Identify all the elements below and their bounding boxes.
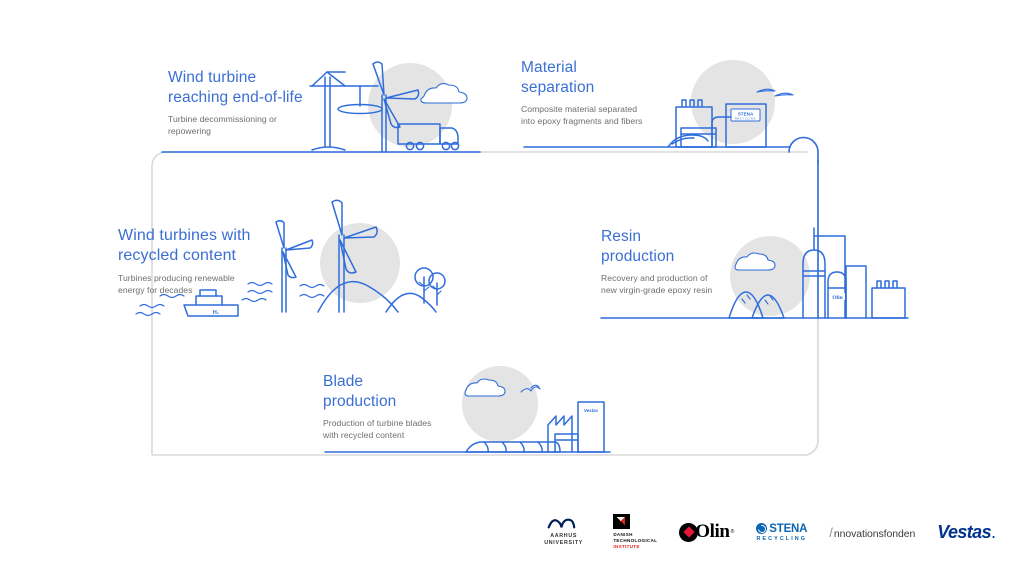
stage-end-of-life: Wind turbine reaching end-of-life Turbin… [168,68,353,137]
stage-title-recycled-content: Wind turbines with recycled content [118,226,318,267]
logo-danish-technological-institute: DANISH TECHNOLOGICAL INSTITUTE [613,510,657,554]
svg-text:STENA: STENA [738,111,754,116]
stena-subtitle: RECYCLING [756,536,807,542]
stage-description-blade-production: Production of turbine blades with recycl… [323,418,523,442]
logo-aarhus-university: AARHUS UNIVERSITY [536,510,591,554]
stage-title-resin-production: Resin production [601,227,791,267]
svg-text:H₂: H₂ [213,310,220,316]
aarhus-wave-icon [547,517,581,530]
olin-wordmark: Olin [695,521,729,543]
logo-olin: Olin ® [679,510,734,554]
innovationsfonden-wordmark: nnovationsfonden [834,528,915,540]
infographic-canvas: .bl{fill:none;stroke:#2f6ddb;stroke-widt… [0,0,1024,576]
svg-text:RECYCLING: RECYCLING [735,117,756,121]
partner-logo-row: AARHUS UNIVERSITY DANISH TECHNOLOGICAL I… [536,508,996,556]
svg-text:Olin: Olin [832,295,843,301]
stena-wordmark: STENA [769,523,807,535]
stage-description-material-separation: Composite material separated into epoxy … [521,104,711,128]
logo-vestas: Vestas . [937,510,996,554]
logo-stena-recycling: STENA RECYCLING [756,510,807,554]
stage-description-end-of-life: Turbine decommissioning or repowering [168,114,353,138]
svg-text:Vestas: Vestas [584,408,599,413]
vestas-period: . [991,522,996,543]
innovationsfonden-slash-icon: / [829,525,833,540]
stage-title-material-separation: Material separation [521,58,711,98]
stena-swirl-icon [756,523,767,534]
logo-aarhus-caption: AARHUS UNIVERSITY [536,533,591,546]
stage-title-end-of-life: Wind turbine reaching end-of-life [168,68,353,108]
logo-innovationsfonden: / nnovationsfonden [829,510,915,554]
vestas-wordmark: Vestas [937,522,991,543]
dti-line-3: INSTITUTE [613,544,657,550]
stage-recycled-content: Wind turbines with recycled content Turb… [118,226,318,297]
stage-material-separation: Material separation Composite material s… [521,58,711,127]
stage-description-resin-production: Recovery and production of new virgin-gr… [601,273,791,297]
stage-resin-production: Resin production Recovery and production… [601,227,791,296]
dti-mark-icon [613,514,630,529]
olin-trademark: ® [731,529,735,535]
stage-title-blade-production: Blade production [323,372,523,412]
stage-description-recycled-content: Turbines producing renewable energy for … [118,273,318,297]
stage-blade-production: Blade production Production of turbine b… [323,372,523,441]
